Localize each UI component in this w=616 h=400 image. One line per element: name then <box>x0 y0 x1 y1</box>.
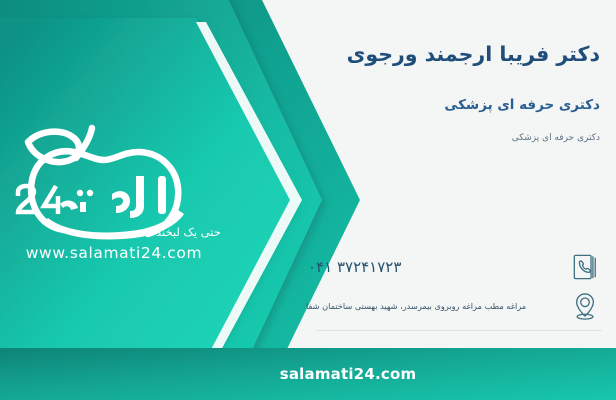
specialty-primary: دکتری حرفه ای پزشکی <box>304 97 600 113</box>
contact-address-row[interactable]: مراغه مطب مراغه روبروی بیمرسدر، شهید بهس… <box>304 288 600 324</box>
logo-website-url: www.salamati24.com <box>8 244 220 262</box>
brand-logo: براحتی یک لبخند www.salamati24.com <box>8 118 220 278</box>
phonebook-icon <box>570 251 600 283</box>
doctor-name: دکتر فریبا ارجمند ورجوی <box>304 42 600 66</box>
footer-website-url[interactable]: salamati24.com <box>0 348 616 400</box>
location-pin-icon <box>570 290 600 322</box>
clinic-address[interactable]: مراغه مطب مراغه روبروی بیمرسدر، شهید بهس… <box>304 301 560 311</box>
contact-phone-row[interactable]: ۳۷۲۴۱۷۲۳ ۰۴۱ <box>304 250 600 284</box>
footer-bar: salamati24.com <box>0 348 616 400</box>
leaf-icon <box>28 132 79 162</box>
business-card: براحتی یک لبخند www.salamati24.com دکتر … <box>0 0 616 400</box>
specialty-secondary: دکتری حرفه ای پزشکی <box>304 133 600 143</box>
brand-tagline <box>94 228 158 231</box>
salamati-logo-mark: براحتی یک لبخند <box>8 118 220 246</box>
brand-tagline-text: براحتی یک لبخند <box>156 225 220 240</box>
phone-number[interactable]: ۳۷۲۴۱۷۲۳ ۰۴۱ <box>304 258 560 276</box>
card-content: دکتر فریبا ارجمند ورجوی دکتری حرفه ای پز… <box>300 0 616 348</box>
